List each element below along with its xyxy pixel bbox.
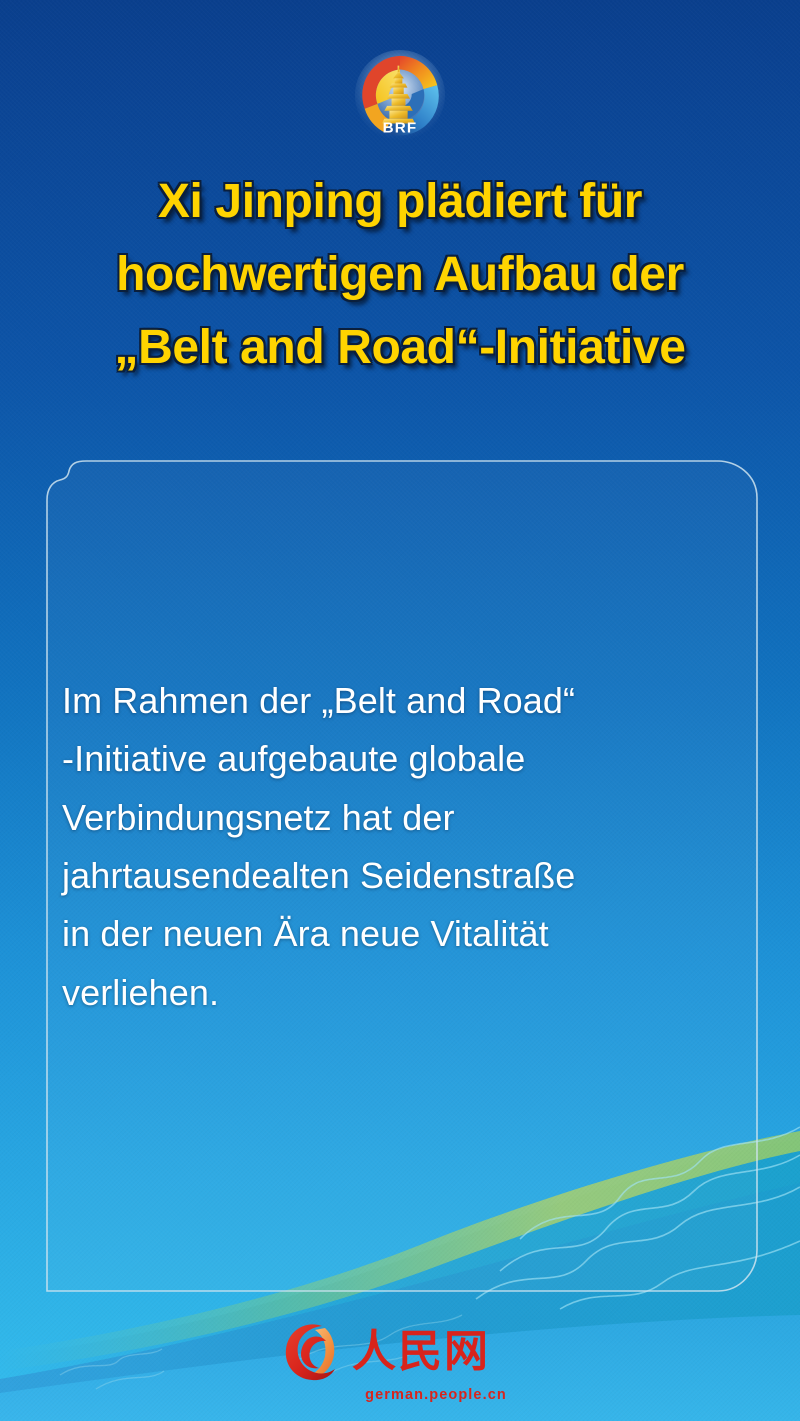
footer-brand[interactable]: 人民网 german.people.cn [278,1318,522,1403]
footer-domain[interactable]: german.people.cn [365,1387,507,1403]
brf-emblem-icon: BRF [351,48,449,146]
people-daily-mark-icon [278,1318,346,1386]
people-daily-wordmark-zh: 人民网 [352,1322,522,1382]
page-title: Xi Jinping plädiert für hochwertigen Auf… [0,166,800,385]
footer-logo-row: 人民网 [278,1318,522,1386]
quote-text: Im Rahmen der „Belt and Road“ -Initiativ… [62,672,742,1022]
svg-text:人民网: 人民网 [352,1326,490,1377]
svg-text:BRF: BRF [383,119,418,136]
poster-root: BRF Xi Jinping plädiert für hochwertigen… [0,0,800,1421]
quote-card: Im Rahmen der „Belt and Road“ -Initiativ… [46,460,758,1292]
